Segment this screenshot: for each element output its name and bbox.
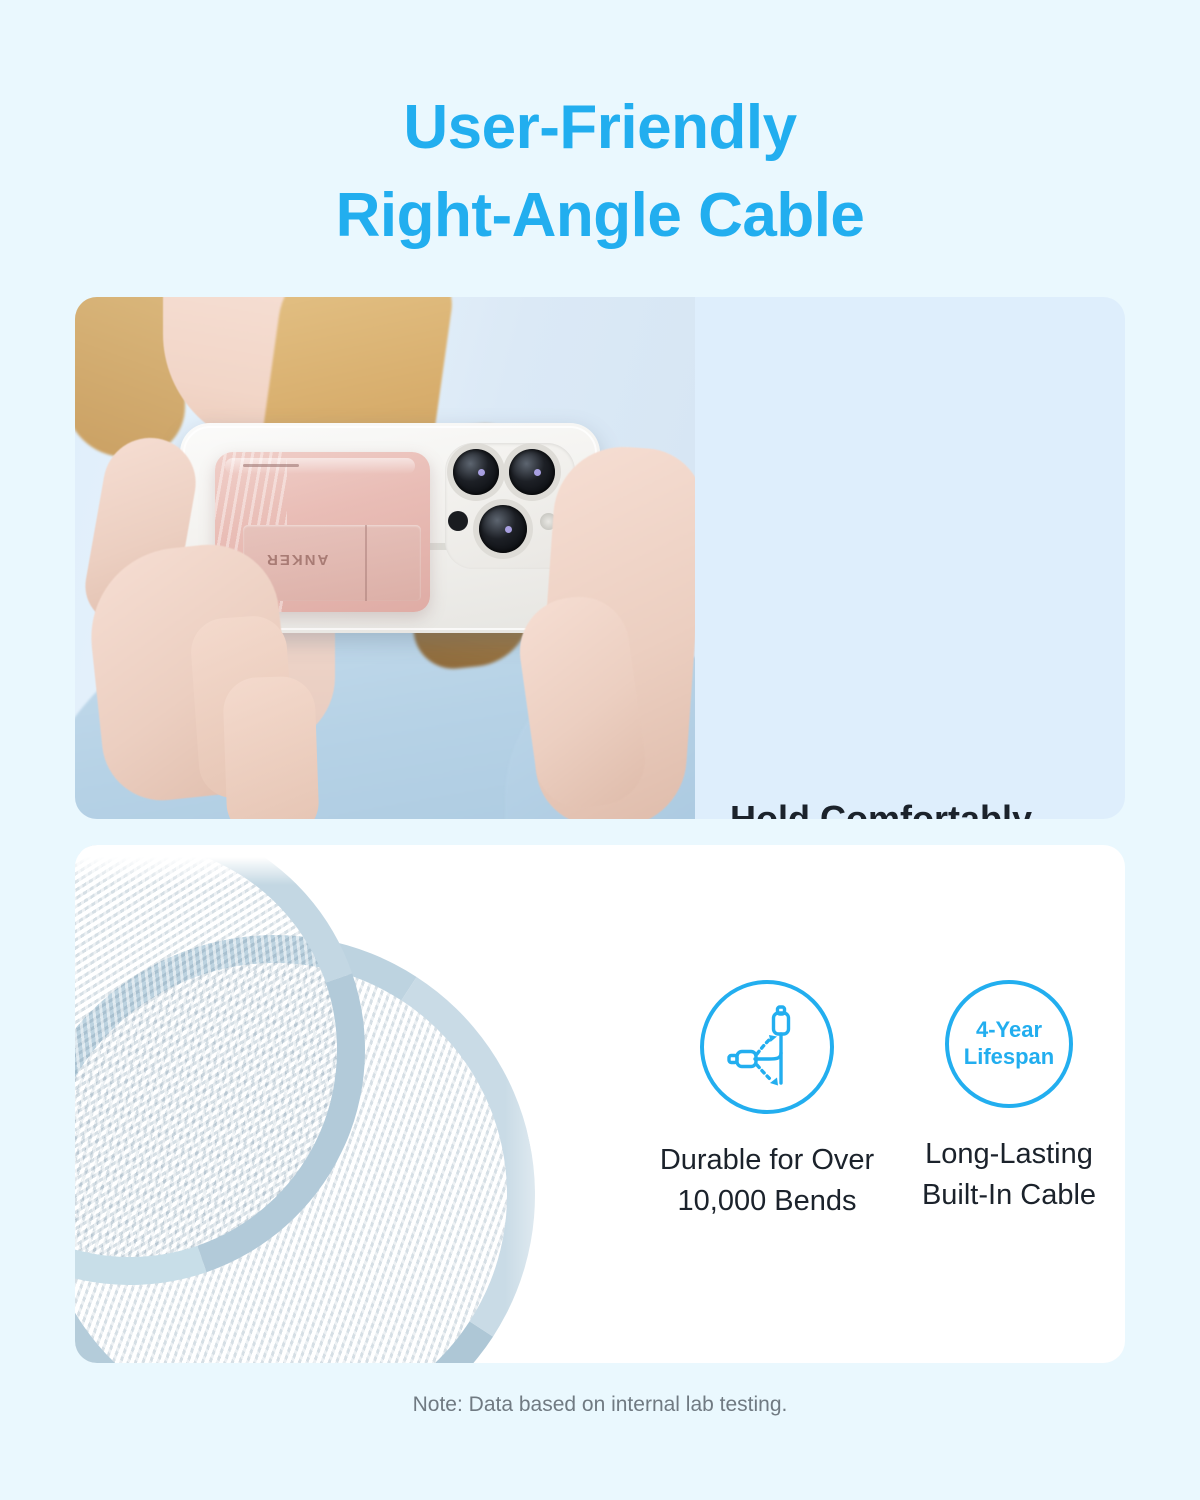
feature-lifespan: 4-Year Lifespan Long-Lasting Built-In Ca…: [897, 980, 1121, 1222]
camera-lens-icon: [509, 449, 555, 495]
feature-caption: Durable for Over 10,000 Bends: [660, 1140, 874, 1222]
lifespan-badge-text: 4-Year Lifespan: [964, 1017, 1054, 1071]
feature-caption: Long-Lasting Built-In Cable: [922, 1134, 1096, 1216]
card-heading-line-1: Hold Comfortably,: [730, 798, 1039, 819]
cable-photo: [75, 845, 635, 1363]
left-hand-finger: [222, 675, 320, 819]
lifespan-badge-line-1: 4-Year: [976, 1017, 1042, 1042]
feature-caption-line-2: Built-In Cable: [922, 1175, 1096, 1216]
right-angle-cable-bend-icon: [700, 980, 834, 1114]
card-heading: Hold Comfortably, Play Effortlessly: [730, 792, 1125, 819]
feature-caption-line-1: Durable for Over: [660, 1144, 874, 1176]
feature-bends: Durable for Over 10,000 Bends: [655, 980, 879, 1222]
camera-flash-icon: [448, 511, 468, 531]
kickstand-divider: [365, 525, 367, 601]
page-title-line-1: User-Friendly: [403, 93, 796, 162]
hold-comfortably-card: ANKER Hold Comfortably, Play Effortlessl…: [75, 297, 1125, 819]
page-title: User-Friendly Right-Angle Cable: [0, 84, 1200, 260]
product-feature-page: User-Friendly Right-Angle Cable: [0, 0, 1200, 1500]
camera-lens-icon: [479, 505, 527, 553]
camera-lens-icon: [453, 449, 499, 495]
power-bank-cable-slot: [243, 464, 299, 467]
photo-fade-right: [505, 845, 645, 1363]
feature-caption-line-2: 10,000 Bends: [660, 1181, 874, 1222]
lifestyle-photo: ANKER: [75, 297, 695, 819]
cable-durability-card: Durable for Over 10,000 Bends 4-Year Lif…: [75, 845, 1125, 1363]
footnote: Note: Data based on internal lab testing…: [0, 1393, 1200, 1417]
lifespan-badge-icon: 4-Year Lifespan: [945, 980, 1073, 1108]
page-title-line-2: Right-Angle Cable: [0, 172, 1200, 260]
lifespan-badge-line-2: Lifespan: [964, 1044, 1054, 1069]
feature-caption-line-1: Long-Lasting: [925, 1138, 1093, 1170]
feature-list: Durable for Over 10,000 Bends 4-Year Lif…: [655, 980, 1125, 1222]
anker-logo: ANKER: [265, 551, 328, 568]
